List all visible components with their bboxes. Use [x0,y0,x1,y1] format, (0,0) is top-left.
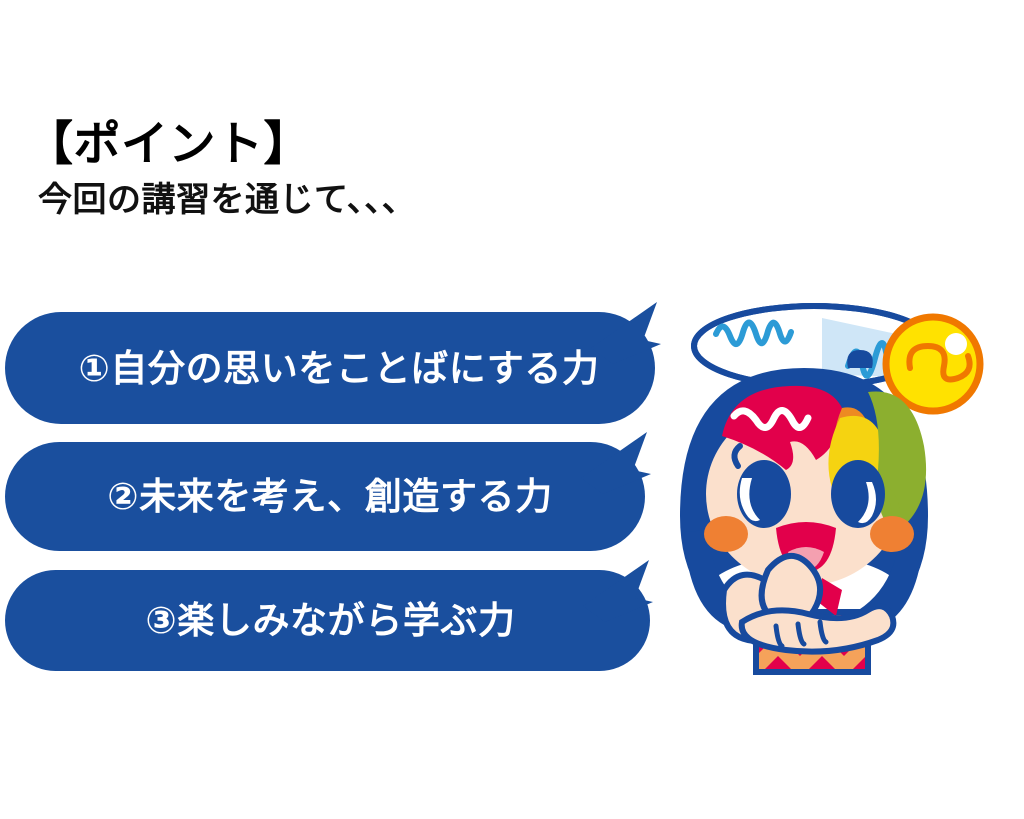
slide-canvas: 【ポイント】 今回の講習を通じて、、、 ①自分の思いをことばにする力 ②未来を考… [0,0,1024,819]
speech-bubble-3[interactable]: ③楽しみながら学ぶ力 [5,570,650,671]
page-title: 【ポイント】 [26,118,666,171]
speech-bubble-2[interactable]: ②未来を考え、創造する力 [5,442,645,551]
speech-bubble-3-tail [575,558,665,628]
speech-bubble-2-tail [573,430,663,500]
lightbulb-icon [886,317,980,411]
speech-bubble-1[interactable]: ①自分の思いをことばにする力 [5,312,655,424]
title-block: 【ポイント】 今回の講習を通じて、、、 [26,118,666,220]
speech-bubble-2-label: ②未来を考え、創造する力 [107,478,553,515]
speech-bubble-1-label: ①自分の思いをことばにする力 [78,350,599,387]
speech-bubble-3-label: ③楽しみながら学ぶ力 [145,602,515,639]
page-subtitle: 今回の講習を通じて、、、 [38,181,666,220]
mascot-illustration [672,296,1024,688]
